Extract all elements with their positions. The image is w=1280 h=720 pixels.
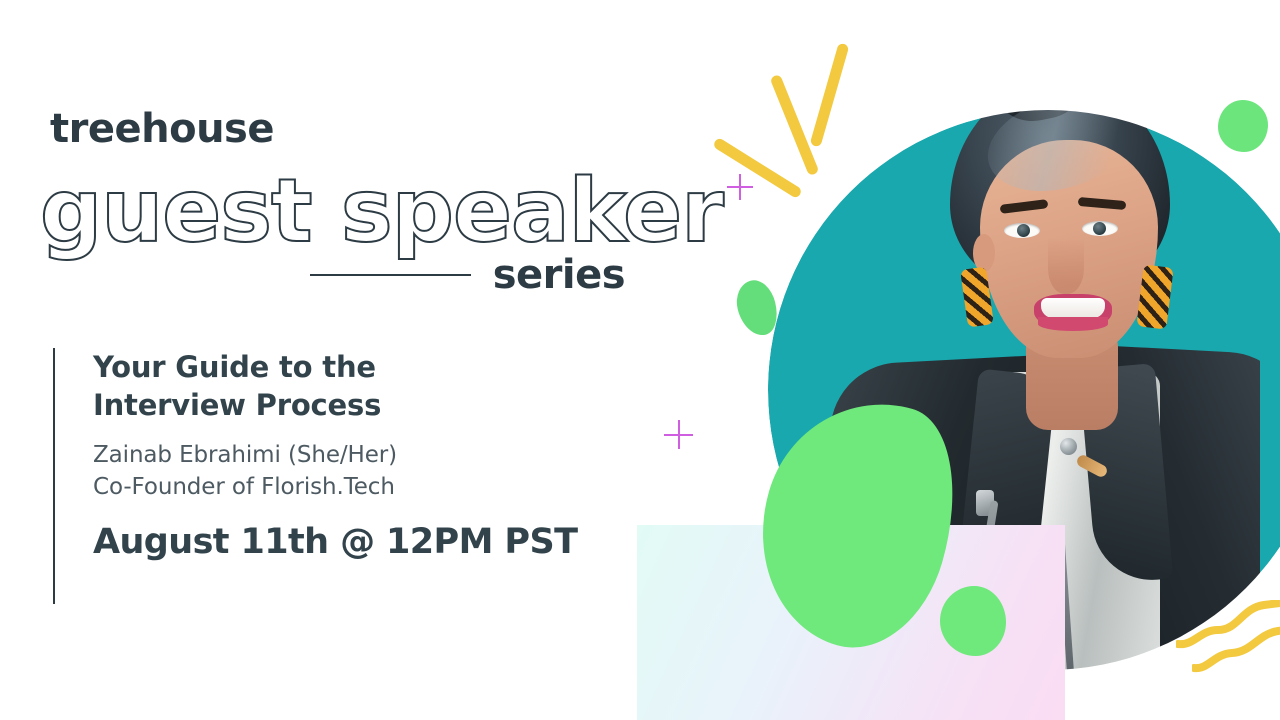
talk-title-line-2: Interview Process: [93, 386, 653, 424]
earring-right: [1136, 264, 1173, 329]
green-blob-small: [940, 586, 1006, 656]
speaker-announcement-slide: treehouse guest speaker series Your Guid…: [0, 0, 1280, 720]
yellow-squiggle-line-icon: [1192, 626, 1280, 674]
nose: [1048, 238, 1084, 294]
talk-title-line-1: Your Guide to the: [93, 348, 653, 386]
series-divider-rule: [310, 274, 471, 276]
pupil-right: [1093, 222, 1106, 235]
brand-wordmark: treehouse: [50, 106, 274, 152]
speaker-role: Co-Founder of Florish.Tech: [93, 471, 653, 504]
talk-title: Your Guide to the Interview Process: [93, 348, 653, 425]
jacket-stud: [1060, 438, 1077, 455]
ear-left: [973, 234, 995, 272]
teeth: [1041, 298, 1105, 318]
series-label: series: [493, 252, 625, 298]
speaker-name: Zainab Ebrahimi (She/Her): [93, 439, 653, 472]
plus-sparkle-icon: [664, 420, 693, 449]
plus-sparkle-icon: [727, 174, 753, 200]
headline-outline: guest speaker: [40, 160, 723, 262]
vertical-accent-rule: [53, 348, 55, 604]
pupil-left: [1017, 224, 1030, 237]
event-details-text: Your Guide to the Interview Process Zain…: [93, 348, 653, 562]
green-blob-top-right: [1218, 100, 1268, 152]
event-datetime: August 11th @ 12PM PST: [93, 522, 653, 562]
lower-lip: [1038, 317, 1108, 331]
series-row: series: [310, 252, 625, 298]
